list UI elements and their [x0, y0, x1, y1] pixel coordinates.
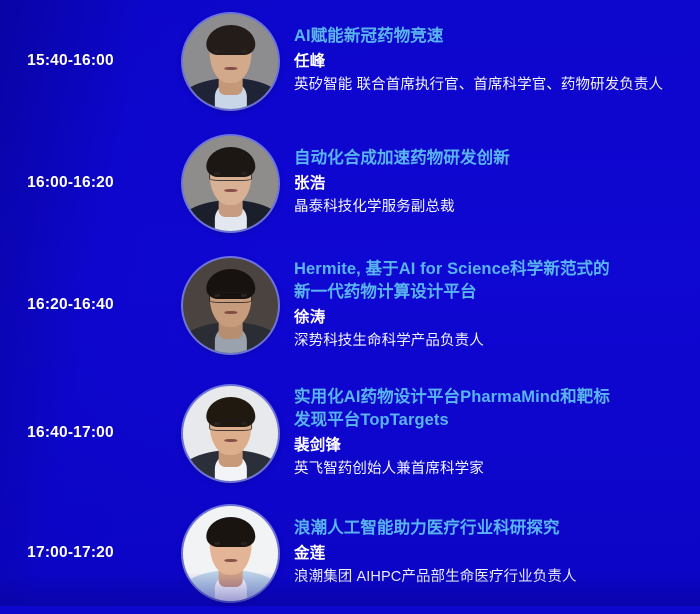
- speaker-avatar: [183, 506, 278, 601]
- session-avatar-cell: [183, 258, 287, 353]
- session-text-cell: 浪潮人工智能助力医疗行业科研探究 金莲 浪潮集团 AIHPC产品部生命医疗行业负…: [287, 517, 700, 588]
- speaker-avatar: [183, 136, 278, 231]
- speaker-avatar: [183, 258, 278, 353]
- session-time: 17:00-17:20: [27, 544, 114, 562]
- session-title: 自动化合成加速药物研发创新: [294, 147, 686, 170]
- session-title: Hermite, 基于AI for Science科学新范式的 新一代药物计算设…: [294, 258, 686, 305]
- speaker-name: 任峰: [294, 50, 686, 73]
- speaker-organization: 英矽智能 联合首席执行官、首席科学官、药物研发负责人: [294, 74, 686, 96]
- session-title-line: 实用化AI药物设计平台PharmaMind和靶标: [294, 388, 610, 406]
- session-avatar-cell: [183, 506, 287, 601]
- speaker-photo-renfeng: [183, 14, 278, 109]
- speaker-name: 徐涛: [294, 306, 686, 329]
- agenda-session-row[interactable]: 16:20-16:40 Hermite, 基于AI for Scie: [0, 244, 700, 366]
- session-text-cell: 自动化合成加速药物研发创新 张浩 晶泰科技化学服务副总裁: [287, 147, 700, 218]
- session-title-line: 新一代药物计算设计平台: [294, 283, 477, 301]
- session-text-cell: Hermite, 基于AI for Science科学新范式的 新一代药物计算设…: [287, 258, 700, 353]
- session-time-cell: 16:00-16:20: [0, 174, 183, 192]
- agenda-schedule-panel: 15:40-16:00 AI赋能新冠药物竞速 任峰 英矽智能 联合首席执行官、首…: [0, 0, 700, 606]
- agenda-session-row[interactable]: 16:40-17:00 实用化AI药物设计平台PharmaMind和: [0, 372, 700, 494]
- session-title-line: Hermite, 基于AI for Science科学新范式的: [294, 260, 610, 278]
- session-time-cell: 16:40-17:00: [0, 424, 183, 442]
- agenda-session-row[interactable]: 16:00-16:20 自动化合成加速药物研发创新 张浩 晶泰: [0, 122, 700, 244]
- speaker-organization: 浪潮集团 AIHPC产品部生命医疗行业负责人: [294, 566, 686, 588]
- session-text-cell: 实用化AI药物设计平台PharmaMind和靶标 发现平台TopTargets …: [287, 386, 700, 481]
- speaker-name: 金莲: [294, 542, 686, 565]
- session-time: 16:40-17:00: [27, 424, 114, 442]
- session-title: AI赋能新冠药物竞速: [294, 25, 686, 48]
- session-title: 实用化AI药物设计平台PharmaMind和靶标 发现平台TopTargets: [294, 386, 686, 433]
- speaker-name: 裴剑锋: [294, 434, 686, 457]
- speaker-organization: 英飞智药创始人兼首席科学家: [294, 458, 686, 480]
- speaker-photo-peijianfeng: [183, 386, 278, 481]
- session-time-cell: 16:20-16:40: [0, 296, 183, 314]
- speaker-organization: 深势科技生命科学产品负责人: [294, 330, 686, 352]
- session-avatar-cell: [183, 136, 287, 231]
- session-time-cell: 15:40-16:00: [0, 52, 183, 70]
- speaker-organization: 晶泰科技化学服务副总裁: [294, 196, 686, 218]
- session-time: 16:20-16:40: [27, 296, 114, 314]
- agenda-session-row[interactable]: 17:00-17:20 浪潮人工智能助力医疗行业科研探究 金莲 浪潮集团 AIH…: [0, 492, 700, 614]
- session-avatar-cell: [183, 14, 287, 109]
- session-time: 16:00-16:20: [27, 174, 114, 192]
- session-title: 浪潮人工智能助力医疗行业科研探究: [294, 517, 686, 540]
- speaker-avatar: [183, 386, 278, 481]
- speaker-photo-xutao: [183, 258, 278, 353]
- session-avatar-cell: [183, 386, 287, 481]
- session-text-cell: AI赋能新冠药物竞速 任峰 英矽智能 联合首席执行官、首席科学官、药物研发负责人: [287, 25, 700, 96]
- speaker-avatar: [183, 14, 278, 109]
- speaker-name: 张浩: [294, 172, 686, 195]
- session-time-cell: 17:00-17:20: [0, 544, 183, 562]
- speaker-photo-jinlian: [183, 506, 278, 601]
- session-time: 15:40-16:00: [27, 52, 114, 70]
- session-title-line: 发现平台TopTargets: [294, 411, 449, 429]
- agenda-session-row[interactable]: 15:40-16:00 AI赋能新冠药物竞速 任峰 英矽智能 联合首席执行官、首…: [0, 0, 700, 122]
- speaker-photo-zhanghao: [183, 136, 278, 231]
